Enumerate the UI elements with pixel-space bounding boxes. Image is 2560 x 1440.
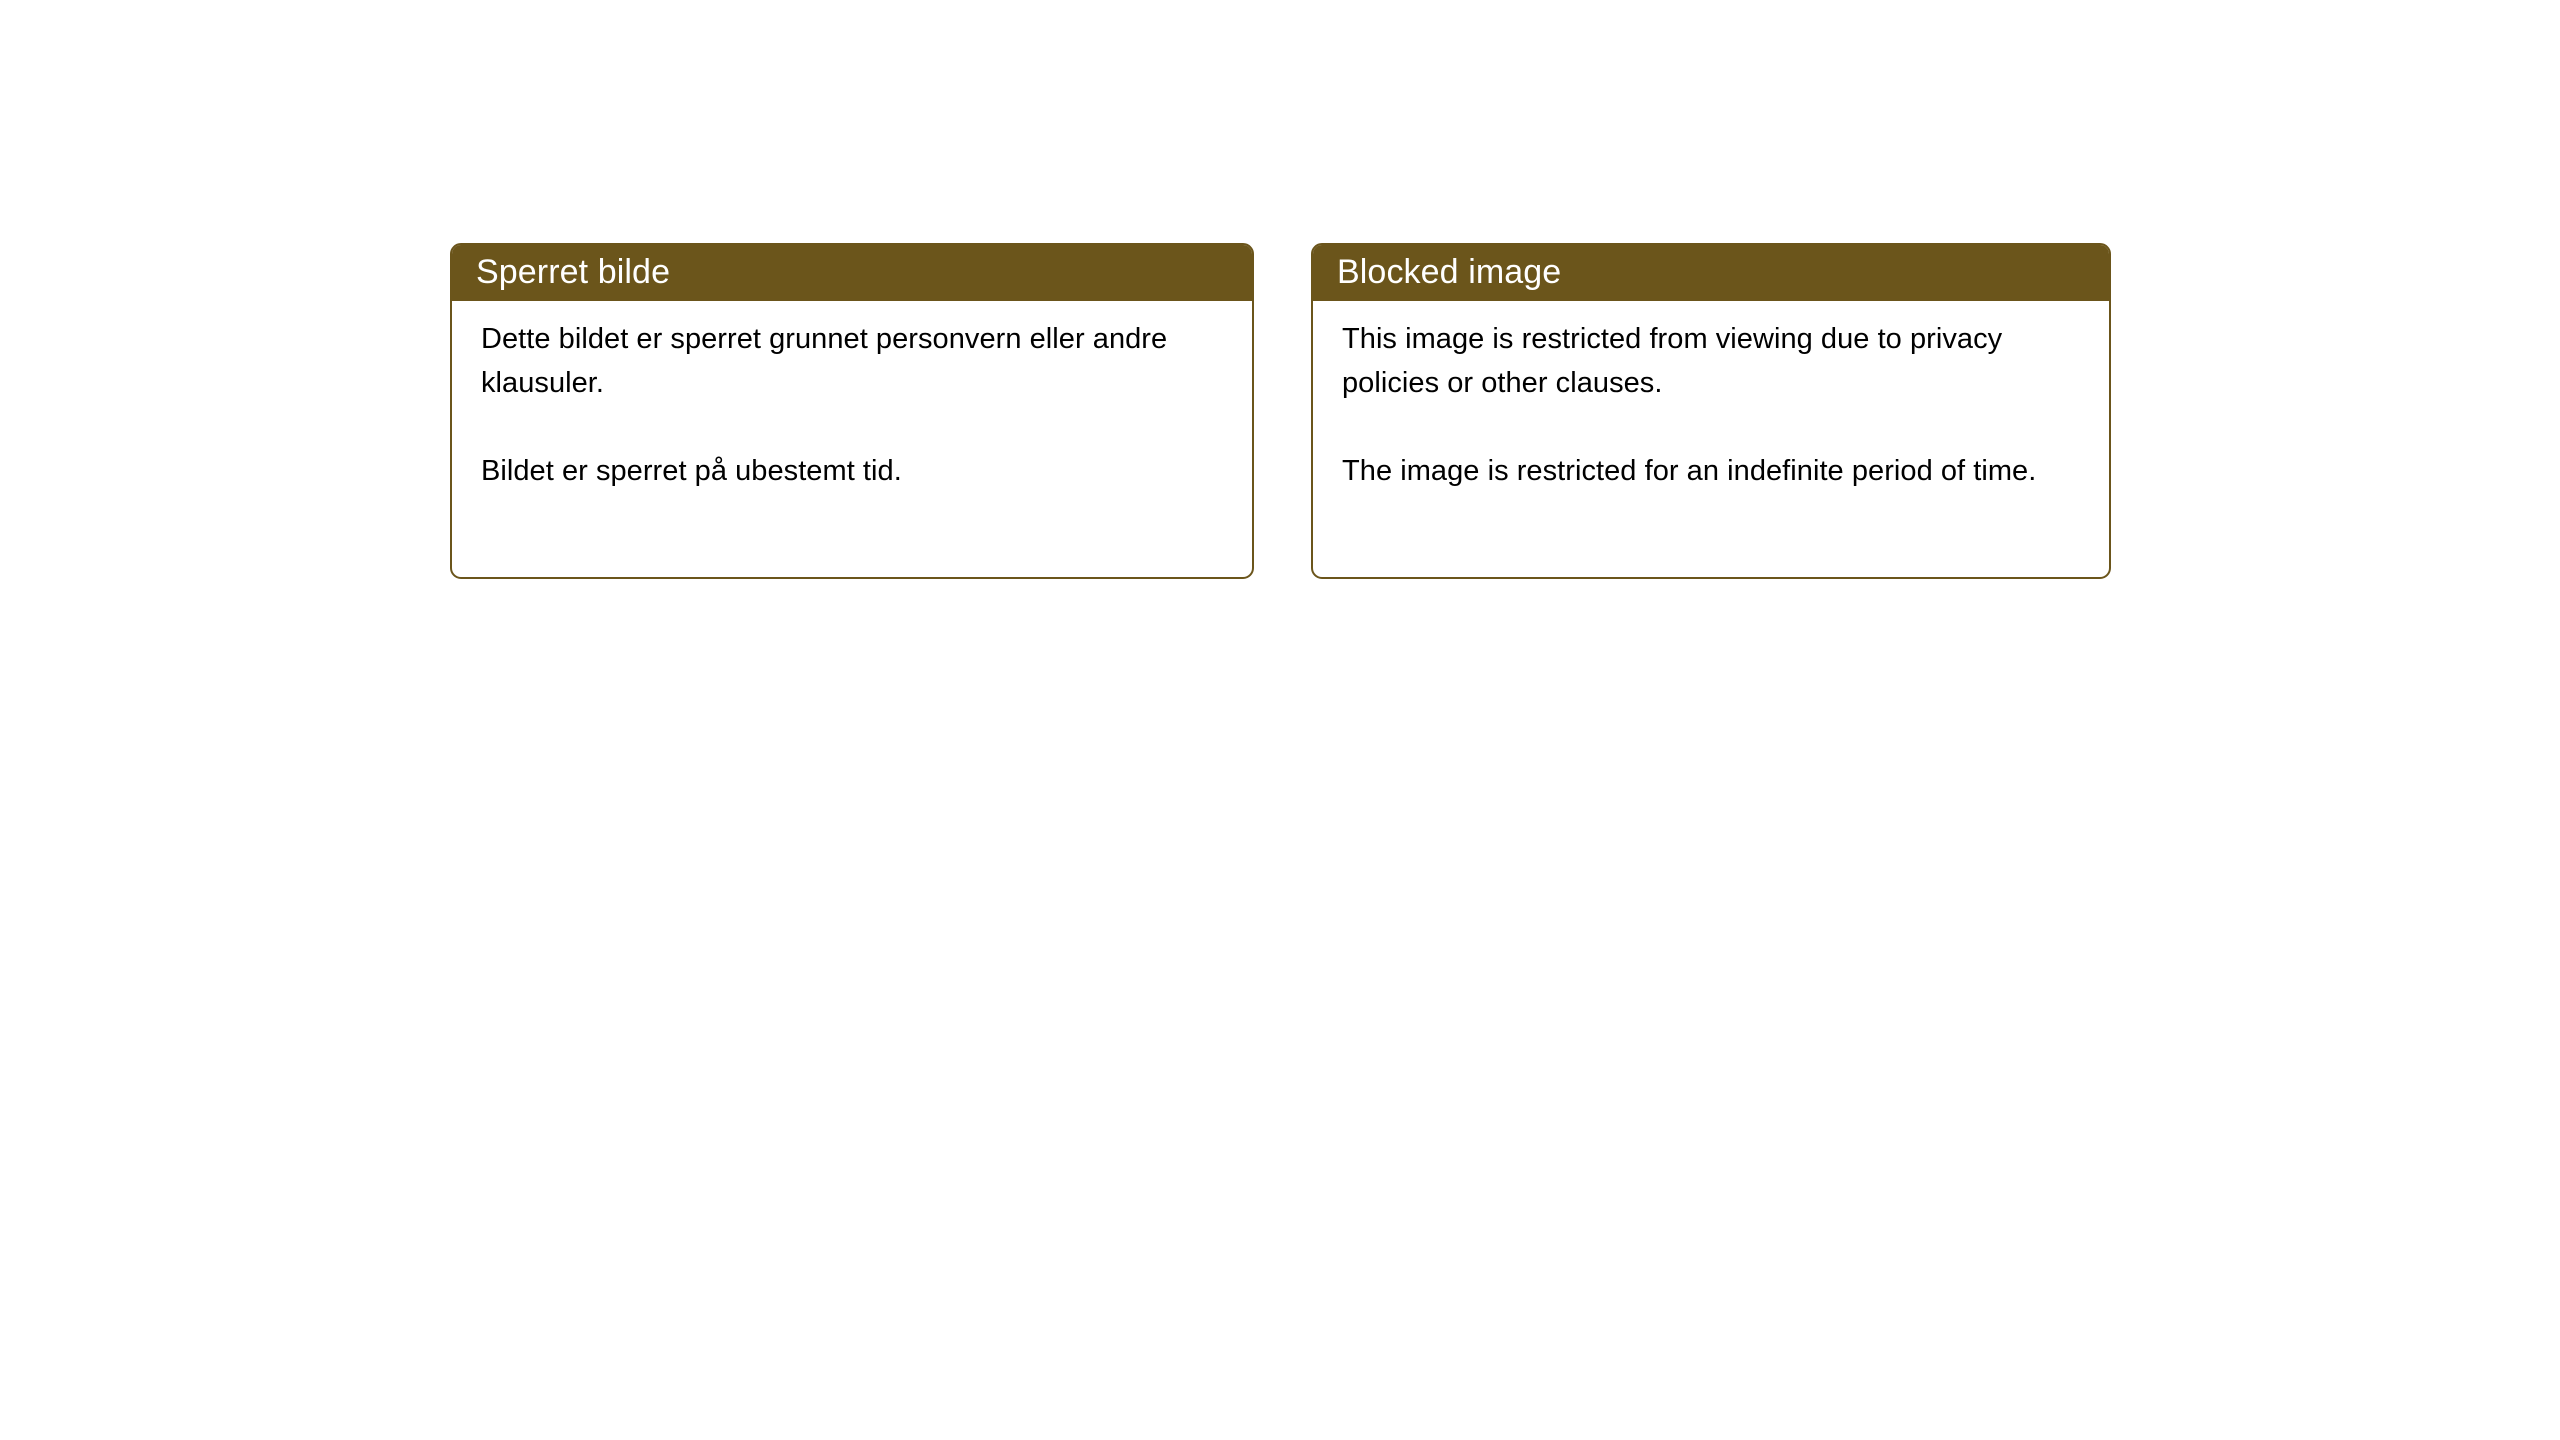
card-paragraph-reason-norwegian: Dette bildet er sperret grunnet personve… <box>481 317 1226 405</box>
card-header-english: Blocked image <box>1311 243 2111 301</box>
card-paragraph-duration-norwegian: Bildet er sperret på ubestemt tid. <box>481 449 1226 493</box>
card-body-english: This image is restricted from viewing du… <box>1313 301 2109 493</box>
card-title-english: Blocked image <box>1337 253 1561 291</box>
card-title-norwegian: Sperret bilde <box>476 253 670 291</box>
card-header-norwegian: Sperret bilde <box>450 243 1254 301</box>
blocked-image-notice-card-english: Blocked image This image is restricted f… <box>1311 243 2111 579</box>
card-paragraph-duration-english: The image is restricted for an indefinit… <box>1342 449 2083 493</box>
page-canvas: Sperret bilde Dette bildet er sperret gr… <box>0 0 2560 1440</box>
card-body-norwegian: Dette bildet er sperret grunnet personve… <box>452 301 1252 493</box>
card-paragraph-reason-english: This image is restricted from viewing du… <box>1342 317 2083 405</box>
blocked-image-notice-card-norwegian: Sperret bilde Dette bildet er sperret gr… <box>450 243 1254 579</box>
